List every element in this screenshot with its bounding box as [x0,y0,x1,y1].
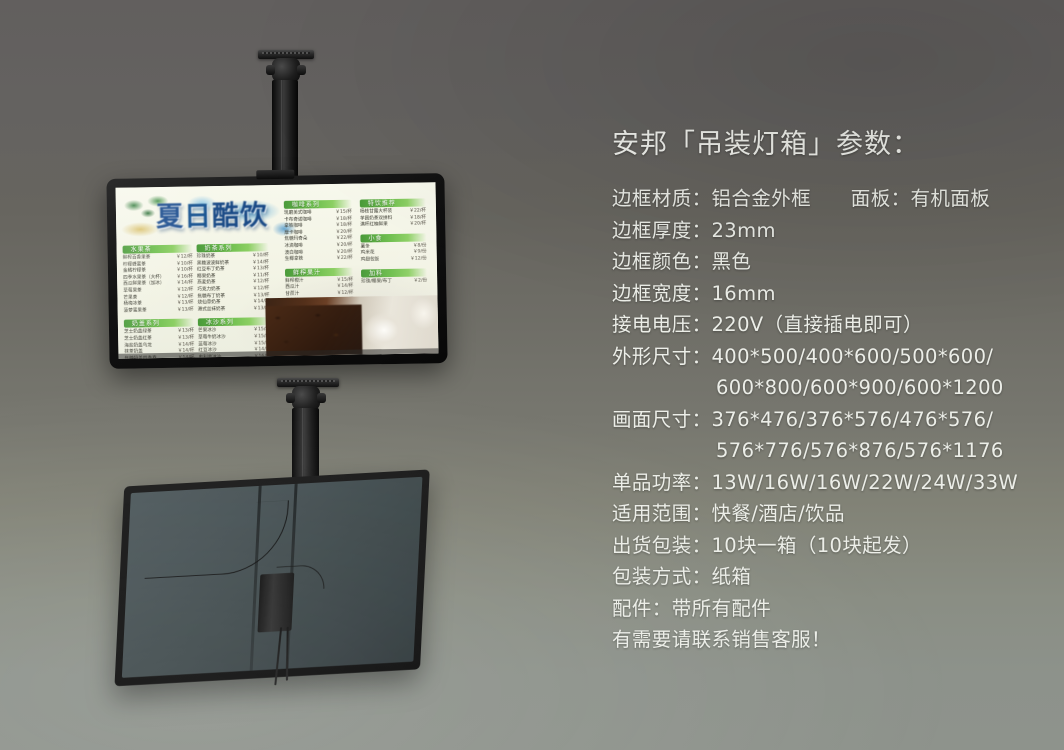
menu-section-title: 咖啡系列 [292,199,320,208]
spec-line-list: 边框材质：铝合金外框 面板：有机面板边框厚度：23mm边框颜色：黑色边框宽度：1… [612,183,1052,656]
spec-line: 边框颜色：黑色 [612,246,1052,278]
menu-column-2: 奶茶系列珍珠奶茶￥10/杯黑糖波波鲜奶茶￥14/杯红豆布丁奶茶￥13/杯椰果奶茶… [197,243,271,359]
specification-panel: 安邦「吊装灯箱」参数： 边框材质：铝合金外框 面板：有机面板边框厚度：23mm边… [612,122,1052,656]
menu-item-price: ￥13/杯 [171,307,194,314]
menu-section-header: 特饮推荐 [360,198,426,207]
spec-line: 外形尺寸：400*500/400*600/500*600/ [612,341,1052,373]
menu-item-name: 珍珠/椰果/布丁 [361,279,392,286]
menu-item-name: 港式丝袜奶茶 [198,307,226,314]
menu-section-title: 奶茶系列 [205,243,233,252]
menu-section-title: 奶盖系列 [132,318,160,327]
menu-item-row: 珍珠/椰果/布丁￥2/份 [361,278,427,286]
menu-item-row: 港式丝袜奶茶￥13/杯 [198,306,270,314]
menu-column-1: 水果茶鲜榨百香果茶￥12/杯柠檬蜂蜜茶￥10/杯金橘柠檬茶￥10/杯四季水果茶（… [123,244,195,358]
menu-column-4: 特饮推荐杨枝甘露大杯装￥22/杯芋圆奶茶双拼料￥18/杯满杯红柚鲜果￥20/杯小… [360,198,428,290]
menu-lightbox-back [114,469,429,686]
menu-item-name: 满杯红柚鲜果 [360,222,388,229]
menu-headline-char-2: 日 [184,201,213,232]
menu-section-header: 水果茶 [123,244,193,253]
menu-item-price: ￥12/份 [404,256,427,263]
spec-line: 适用范围：快餐/酒店/饮品 [612,498,1052,530]
spec-line: 边框厚度：23mm [612,215,1052,247]
back-mount-bracket [257,573,294,633]
spec-title: 安邦「吊装灯箱」参数： [612,122,1052,161]
mount-pole-upper [272,80,298,182]
swivel-knuckle-icon [272,58,300,82]
menu-item-name: 鸡翅包饭 [361,257,380,264]
spec-line: 600*800/600*900/600*1200 [612,372,1052,404]
spec-line: 包装方式：纸箱 [612,561,1052,593]
spec-line: 有需要请联系销售客服！ [612,624,1052,656]
power-cable-curve [145,500,289,579]
coffee-photo [265,295,438,356]
menu-item-name: 生椰拿铁 [285,257,304,264]
menu-item-name: 菠萝蜜果茶 [124,308,147,315]
menu-item-price: ￥2/份 [407,278,427,285]
menu-section-title: 水果茶 [131,244,152,253]
menu-item-row: 菠萝蜜果茶￥13/杯 [124,307,194,315]
menu-section-title: 鲜榨果汁 [293,267,321,276]
menu-section-title: 特饮推荐 [368,198,396,207]
coffee-beans-image [266,305,363,357]
lightbox-mount-tab [256,170,294,180]
product-photo: 夏日酷饮 水果茶鲜榨百香果茶￥12/杯柠檬蜂蜜茶￥10/杯金橘柠檬茶￥10/杯四… [0,0,600,750]
menu-section-header: 奶茶系列 [197,243,269,252]
menu-item-row: 鸡翅包饭￥12/份 [361,256,427,264]
swivel-knuckle-lower-icon [292,386,320,410]
menu-section-header: 鲜榨果汁 [285,267,353,276]
menu-poster: 夏日酷饮 水果茶鲜榨百香果茶￥12/杯柠檬蜂蜜茶￥10/杯金橘柠檬茶￥10/杯四… [116,182,439,359]
menu-lightbox-front: 夏日酷饮 水果茶鲜榨百香果茶￥12/杯柠檬蜂蜜茶￥10/杯金橘柠檬茶￥10/杯四… [106,173,447,369]
spec-line: 画面尺寸：376*476/376*576/476*576/ [612,404,1052,436]
menu-section-header: 加料 [361,268,427,277]
menu-item-row: 满杯红柚鲜果￥20/杯 [360,222,426,230]
spec-line: 接电电压：220V（直接插电即可） [612,309,1052,341]
spec-line: 配件：带所有配件 [612,593,1052,625]
menu-section-header: 奶盖系列 [124,319,194,328]
menu-section-title: 小食 [368,233,382,242]
spec-line: 边框宽度：16mm [612,278,1052,310]
menu-headline-char-3: 酷饮 [212,200,269,232]
menu-section-header: 小食 [360,233,426,242]
spec-line: 出货包装：10块一箱（10块起发） [612,530,1052,562]
menu-item-price: ￥20/杯 [404,222,427,229]
menu-section-header: 咖啡系列 [284,200,352,209]
product-spec-image: 夏日酷饮 水果茶鲜榨百香果茶￥12/杯柠檬蜂蜜茶￥10/杯金橘柠檬茶￥10/杯四… [0,0,1064,750]
spec-line: 边框材质：铝合金外框 面板：有机面板 [612,183,1052,215]
menu-headline-char-1: 夏 [156,202,185,233]
menu-item-row: 生椰拿铁￥22/杯 [285,256,353,264]
spec-line: 单品功率：13W/16W/16W/22W/24W/33W [612,467,1052,499]
menu-item-price: ￥22/杯 [330,256,353,263]
menu-section-title: 冰沙系列 [206,317,234,326]
menu-section-title: 加料 [369,268,383,277]
spec-line: 576*776/576*876/576*1176 [612,435,1052,467]
menu-section-header: 冰沙系列 [198,317,270,326]
